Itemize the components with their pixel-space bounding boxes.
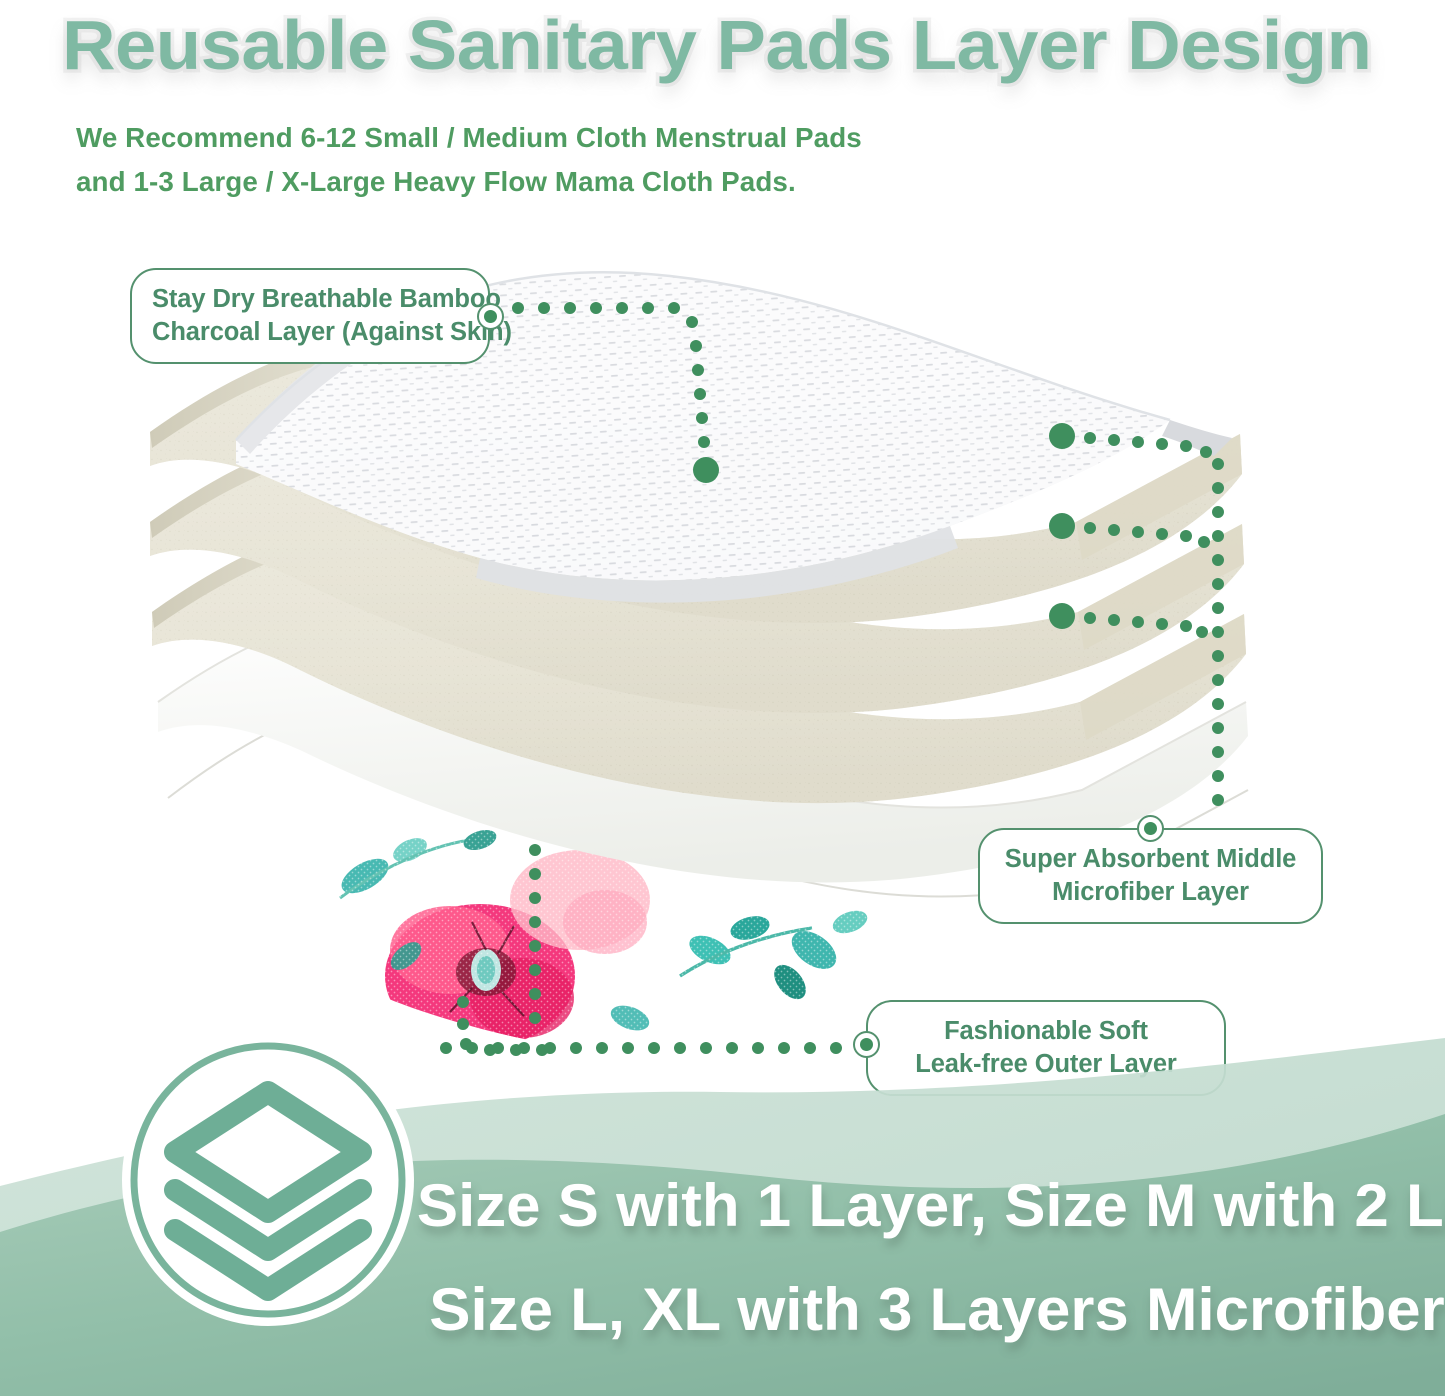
banner-line-1: Size S with 1 Layer, Size M with 2 Layer… <box>417 1154 1445 1258</box>
infographic-canvas: Reusable Sanitary Pads Layer Design We R… <box>0 0 1445 1396</box>
banner-text: Size S with 1 Layer, Size M with 2 Layer… <box>417 1154 1445 1362</box>
subtitle: We Recommend 6-12 Small / Medium Cloth M… <box>76 116 1086 204</box>
callout-super-absorbent-layer[interactable]: Super Absorbent Middle Microfiber Layer <box>978 828 1323 924</box>
callout-mid-connector-dot-icon <box>1137 815 1164 842</box>
callout-top-connector-dot-icon <box>477 303 504 330</box>
callout-bamboo-charcoal-layer[interactable]: Stay Dry Breathable Bamboo Charcoal Laye… <box>130 268 490 364</box>
page-title: Reusable Sanitary Pads Layer Design <box>62 6 1429 84</box>
callout-mid-line-2: Microfiber Layer <box>1000 876 1301 909</box>
connector-microfiber-trunk <box>1212 458 1224 806</box>
callout-mid-line-1: Super Absorbent Middle <box>1000 843 1301 876</box>
subtitle-line-1: We Recommend 6-12 Small / Medium Cloth M… <box>76 116 1086 160</box>
callout-top-line-2: Charcoal Layer (Against Skin) <box>152 316 468 349</box>
callout-top-line-1: Stay Dry Breathable Bamboo <box>152 283 468 316</box>
subtitle-line-2: and 1-3 Large / X-Large Heavy Flow Mama … <box>76 160 1086 204</box>
banner-line-2: Size L, XL with 3 Layers Microfiber <box>417 1258 1445 1362</box>
stacked-layers-badge <box>118 1030 418 1330</box>
pad-layer-illustration <box>150 250 1260 1050</box>
